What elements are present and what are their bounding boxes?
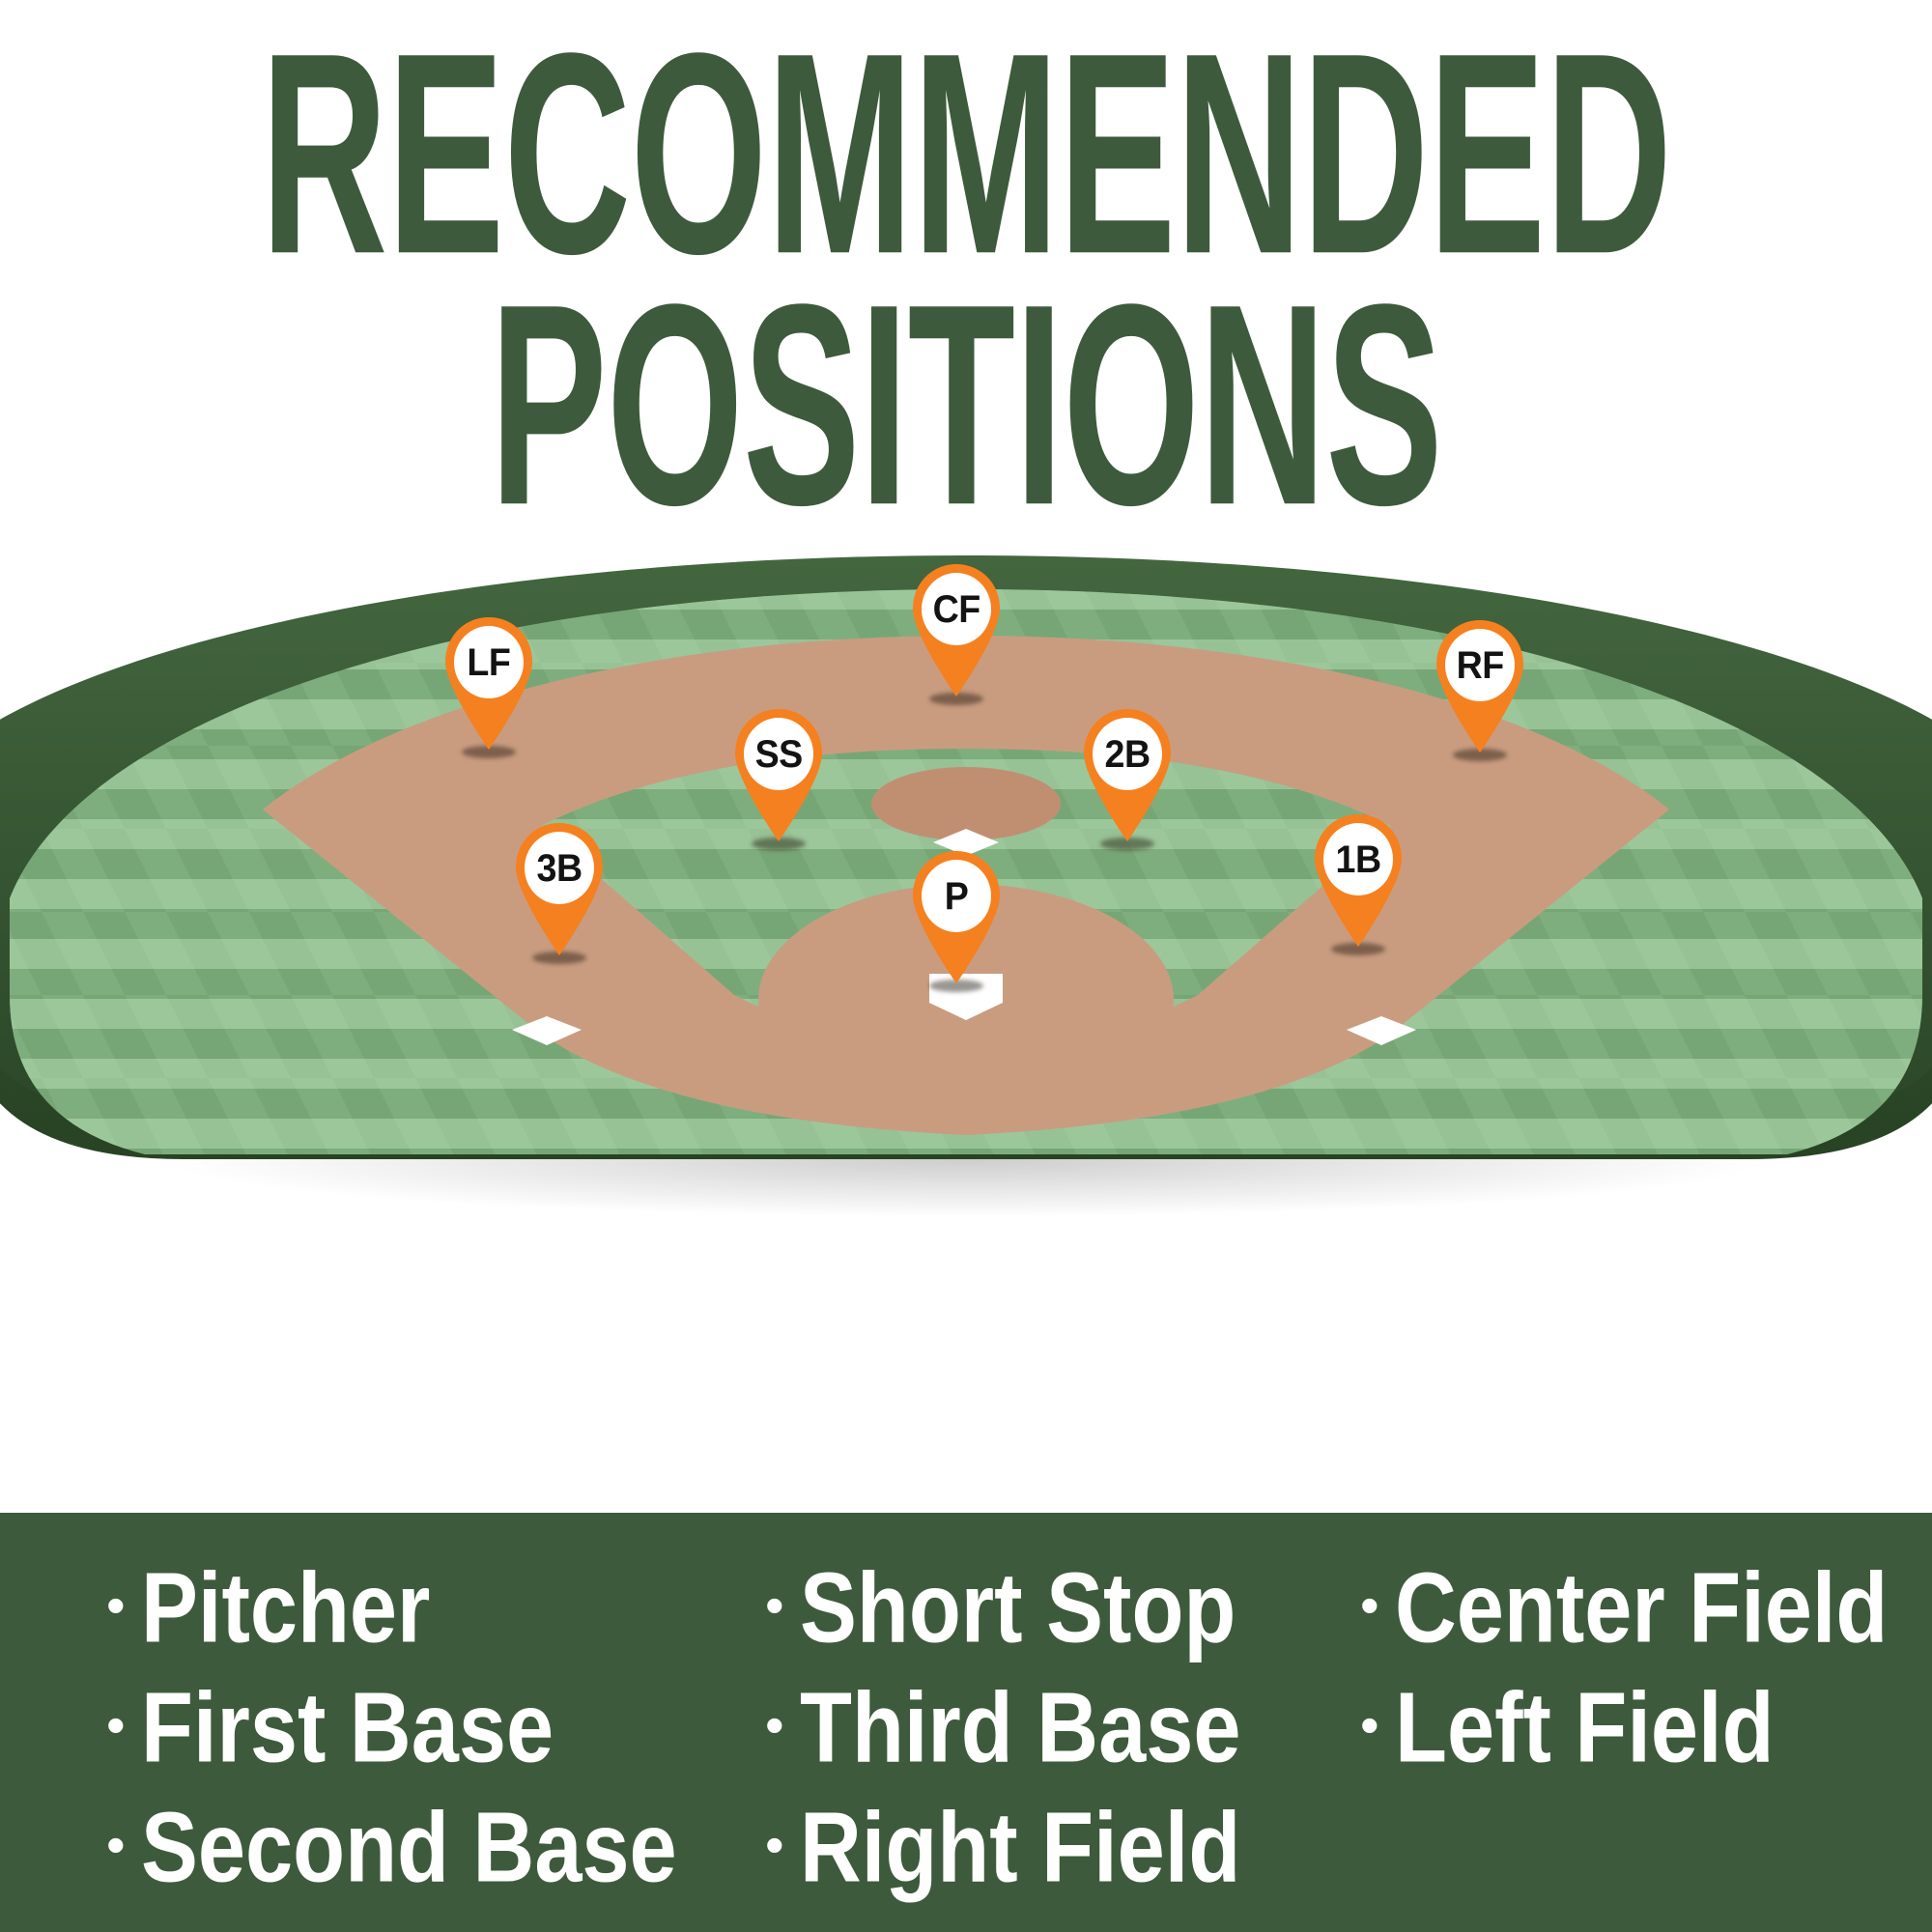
bullet-icon: • (106, 1818, 126, 1872)
recommended-positions-infographic: RECOMMENDED POSITIONS (0, 0, 1932, 1932)
position-name-third-base: Third Base (800, 1678, 1240, 1777)
pin-disc: 2B (1093, 718, 1162, 790)
pin-label-lf: LF (467, 643, 510, 682)
pin-label-ss: SS (754, 735, 802, 774)
position-pin-short-stop[interactable]: SS (731, 708, 826, 841)
pin-label-1b: 1B (1335, 840, 1380, 879)
list-item[interactable]: • Pitcher (106, 1551, 734, 1665)
pin-label-cf: CF (932, 590, 980, 629)
position-name-left-field: Left Field (1395, 1678, 1775, 1777)
list-item[interactable]: • Third Base (765, 1671, 1333, 1785)
position-name-short-stop: Short Stop (800, 1558, 1236, 1658)
position-name-first-base: First Base (141, 1678, 554, 1777)
positions-column-1: • Pitcher • First Base • Second Base (0, 1551, 734, 1932)
pin-disc: 3B (525, 832, 594, 904)
position-pin-center-field[interactable]: CF (909, 563, 1004, 696)
position-name-center-field: Center Field (1395, 1558, 1888, 1658)
bullet-icon: • (106, 1698, 126, 1752)
position-pin-pitcher[interactable]: P (909, 850, 1004, 983)
title-line-2: POSITIONS (193, 272, 1739, 539)
pin-disc: RF (1445, 629, 1515, 701)
list-item[interactable]: • Left Field (1360, 1671, 1932, 1785)
pin-disc: LF (454, 626, 524, 698)
position-pin-first-base[interactable]: 1B (1311, 813, 1406, 947)
bullet-icon: • (106, 1578, 126, 1633)
list-item[interactable]: • Short Stop (765, 1551, 1333, 1665)
pin-label-p: P (945, 877, 969, 916)
position-pin-left-field[interactable]: LF (441, 616, 536, 750)
list-item[interactable]: • Center Field (1360, 1551, 1932, 1665)
positions-column-2: • Short Stop • Third Base • Right Field (734, 1551, 1333, 1932)
pin-label-rf: RF (1456, 646, 1503, 685)
bullet-icon: • (765, 1698, 784, 1752)
position-pin-third-base[interactable]: 3B (512, 822, 607, 955)
position-name-second-base: Second Base (141, 1798, 677, 1897)
position-name-right-field: Right Field (800, 1798, 1240, 1897)
pin-disc: 1B (1323, 823, 1393, 895)
bullet-icon: • (1360, 1578, 1379, 1633)
position-name-pitcher: Pitcher (141, 1558, 430, 1658)
bullet-icon: • (1360, 1698, 1379, 1752)
baseball-field-diagram: LF CF RF SS (0, 580, 1932, 1179)
list-item[interactable]: • First Base (106, 1671, 734, 1785)
pin-disc: P (922, 860, 991, 932)
pin-disc: CF (922, 573, 991, 645)
position-pin-right-field[interactable]: RF (1433, 619, 1527, 753)
pin-label-2b: 2B (1104, 735, 1150, 774)
position-pin-second-base[interactable]: 2B (1080, 708, 1175, 841)
positions-column-3: • Center Field • Left Field (1333, 1551, 1932, 1932)
list-item[interactable]: • Second Base (106, 1791, 734, 1905)
positions-legend-panel: • Pitcher • First Base • Second Base • S… (0, 1513, 1932, 1932)
bullet-icon: • (765, 1818, 784, 1872)
pin-disc: SS (744, 718, 813, 790)
list-item[interactable]: • Right Field (765, 1791, 1333, 1905)
pin-label-3b: 3B (536, 849, 582, 888)
bullet-icon: • (765, 1578, 784, 1633)
page-title: RECOMMENDED POSITIONS (0, 21, 1932, 477)
